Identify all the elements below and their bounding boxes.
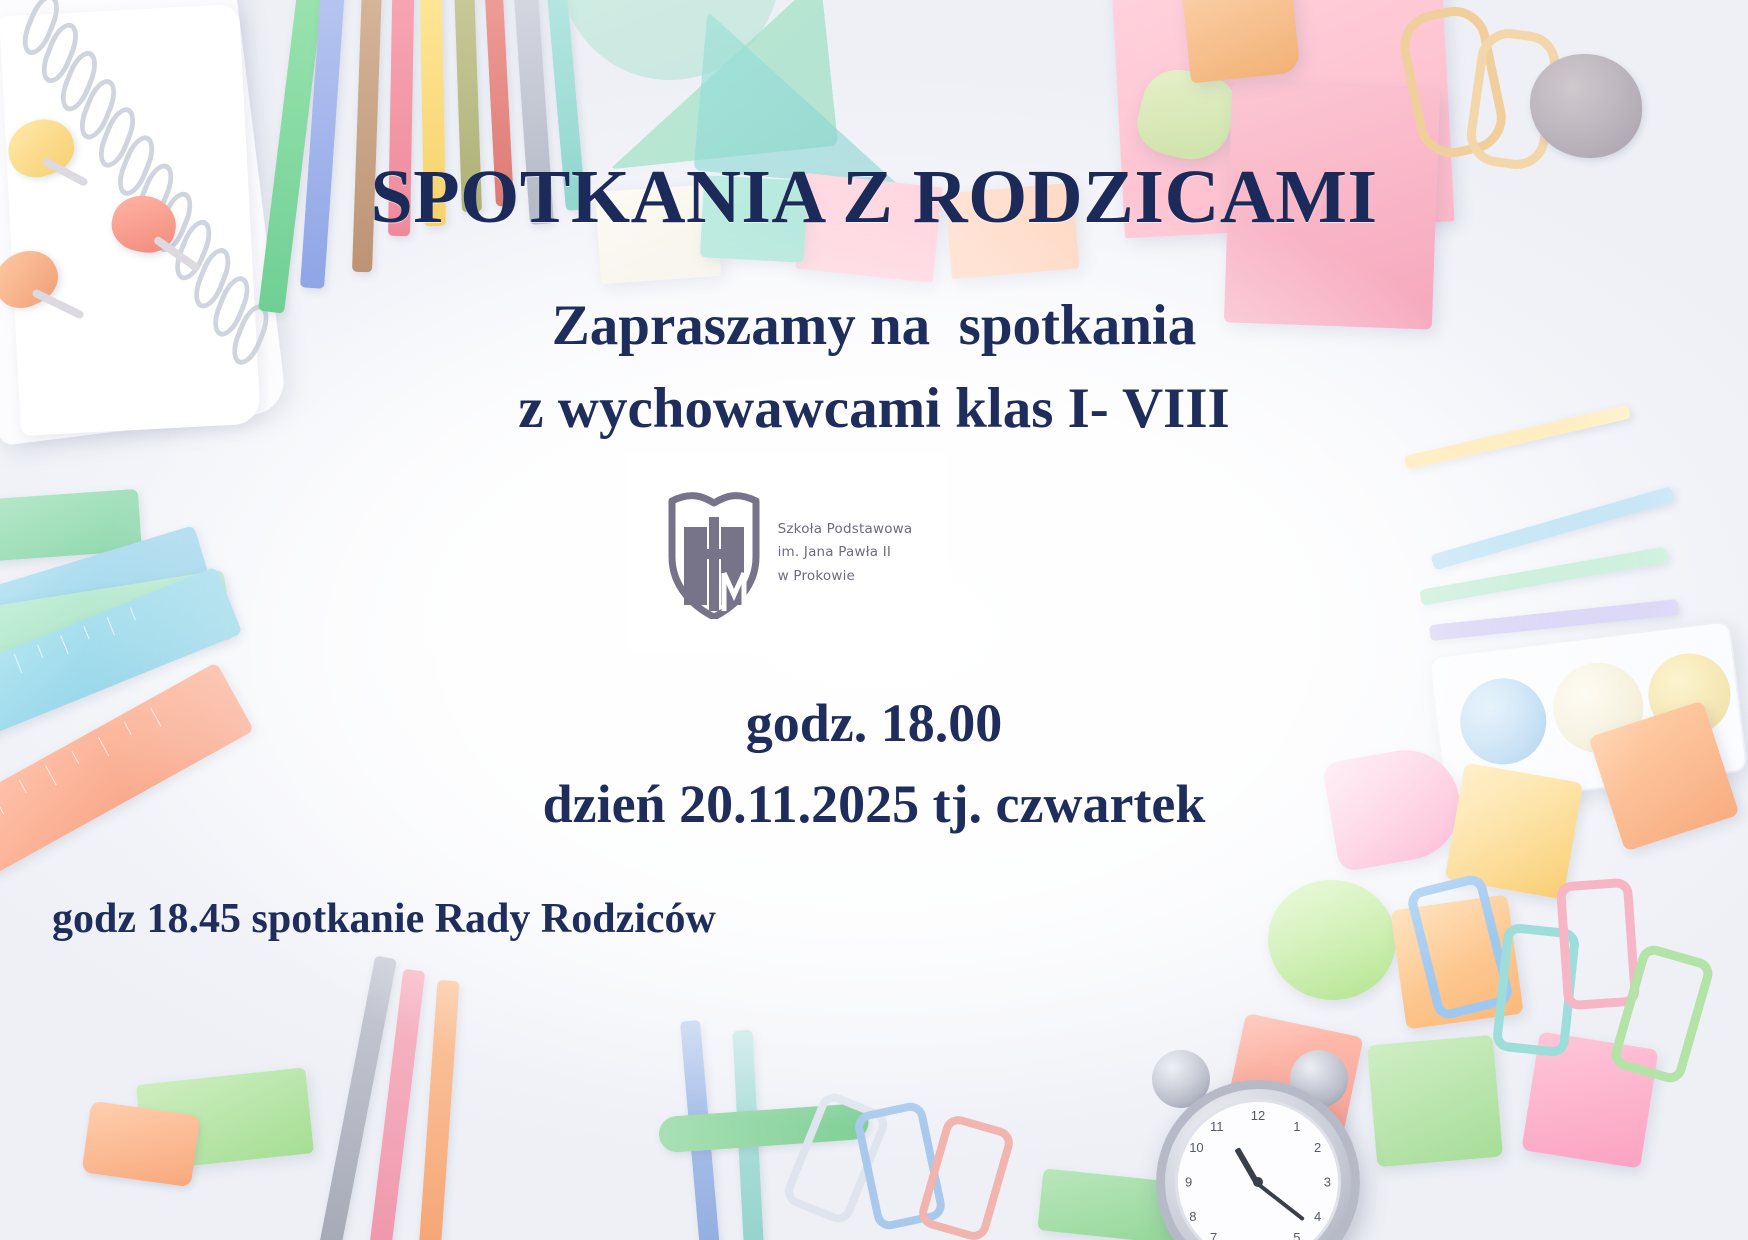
meeting-details: godz. 18.00 dzień 20.11.2025 tj. czwarte… (0, 683, 1748, 845)
meeting-time: godz. 18.00 (0, 683, 1748, 764)
parents-council-note: godz 18.45 spotkanie Rady Rodziców (52, 895, 716, 943)
invitation-line-1: Zapraszamy na spotkania (552, 294, 1197, 357)
invitation-line-2: z wychowawcami klas I- VIII (518, 377, 1229, 440)
shield-icon (662, 487, 766, 619)
meeting-date: dzień 20.11.2025 tj. czwartek (0, 764, 1748, 845)
poster-content: SPOTKANIA Z RODZICAMI Zapraszamy na spot… (0, 0, 1748, 1240)
school-name-line-3: w Prokowie (778, 565, 913, 588)
school-name-line-1: Szkoła Podstawowa (778, 518, 913, 541)
poster: 12 1 2 3 4 5 6 7 8 9 10 11 SPOTKANIA Z R… (0, 0, 1748, 1240)
invitation-text: Zapraszamy na spotkania z wychowawcami k… (0, 285, 1748, 450)
school-logo: Szkoła Podstawowa im. Jana Pawła II w Pr… (626, 452, 948, 654)
school-name-line-2: im. Jana Pawła II (778, 541, 913, 564)
page-title: SPOTKANIA Z RODZICAMI (0, 154, 1748, 241)
school-logo-text: Szkoła Podstawowa im. Jana Pawła II w Pr… (778, 518, 913, 588)
